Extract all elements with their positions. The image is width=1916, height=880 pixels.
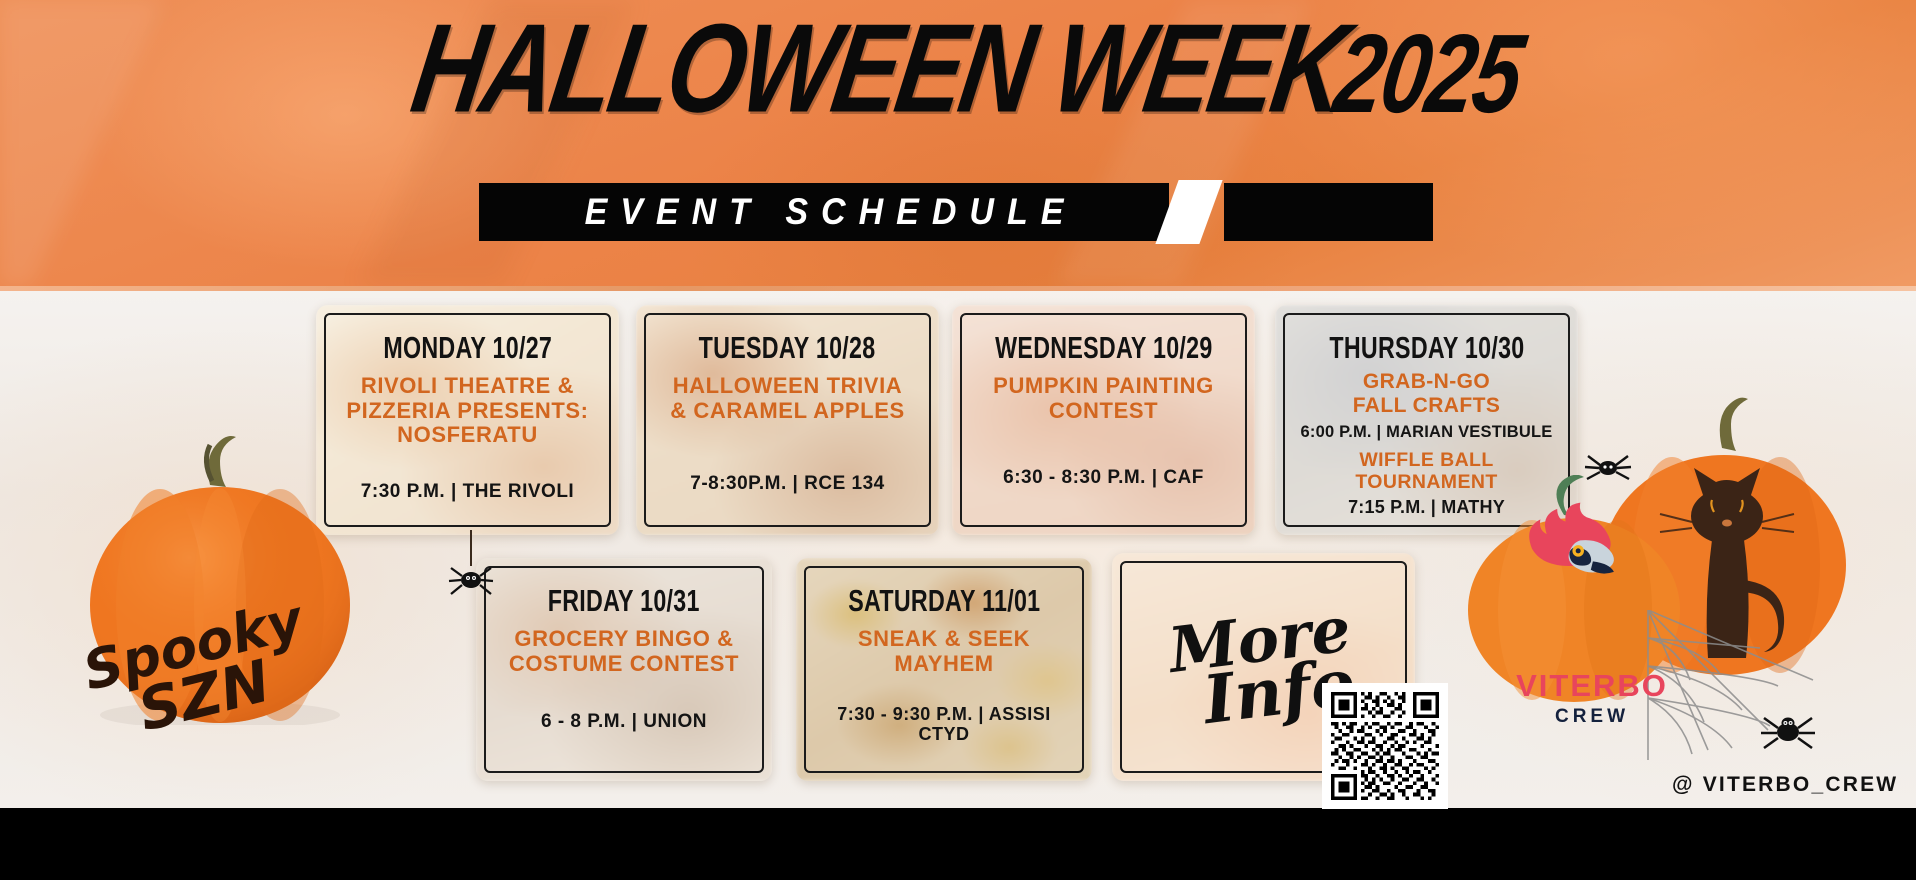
event-meta: 6:30 - 8:30 P.M. | CAF <box>1003 467 1204 489</box>
halloween-week-poster: HALLOWEEN WEEK 2025 EVENT SCHEDULE <box>0 0 1916 880</box>
card-content: WEDNESDAY 10/29 PUMPKIN PAINTING CONTEST… <box>960 313 1247 527</box>
page-title: HALLOWEEN WEEK <box>405 5 1353 131</box>
event-schedule-banner: EVENT SCHEDULE <box>479 183 1433 241</box>
poster-header: HALLOWEEN WEEK 2025 EVENT SCHEDULE <box>0 0 1916 286</box>
event-title: RIVOLI THEATRE & PIZZERIA PRESENTS: NOSF… <box>346 374 588 448</box>
card-content: FRIDAY 10/31 GROCERY BINGO & COSTUME CON… <box>484 566 764 773</box>
footer-bar <box>0 808 1916 880</box>
event-card-wednesday[interactable]: WEDNESDAY 10/29 PUMPKIN PAINTING CONTEST… <box>952 305 1255 535</box>
event-title: PUMPKIN PAINTING CONTEST <box>993 374 1214 423</box>
event-card-friday[interactable]: FRIDAY 10/31 GROCERY BINGO & COSTUME CON… <box>476 558 772 781</box>
card-content: SATURDAY 11/01 SNEAK & SEEK MAYHEM 7:30 … <box>804 566 1084 773</box>
hanging-spider-icon <box>448 560 494 600</box>
viterbo-crew-logotype: VITERBO CREW <box>1492 668 1692 728</box>
banner-label: EVENT SCHEDULE <box>479 180 1169 244</box>
spider-icon <box>1761 718 1815 749</box>
event-meta: 7-8:30P.M. | RCE 134 <box>690 473 885 495</box>
event-day: TUESDAY 10/28 <box>699 331 876 366</box>
viterbo-word: VITERBO <box>1492 668 1692 704</box>
card-content: TUESDAY 10/28 HALLOWEEN TRIVIA & CARAMEL… <box>644 313 931 527</box>
event-meta: 6 - 8 P.M. | UNION <box>541 711 707 733</box>
event-title: HALLOWEEN TRIVIA & CARAMEL APPLES <box>670 374 905 423</box>
header-edge-divider <box>0 286 1916 291</box>
event-card-saturday[interactable]: SATURDAY 11/01 SNEAK & SEEK MAYHEM 7:30 … <box>796 558 1092 781</box>
title-year: 2025 <box>1328 18 1529 130</box>
event-title: GRAB-N-GO FALL CRAFTS <box>1353 370 1501 417</box>
event-meta: 7:30 P.M. | THE RIVOLI <box>361 481 574 503</box>
event-day: SATURDAY 11/01 <box>848 584 1040 619</box>
crew-word: CREW <box>1492 706 1692 728</box>
title-line: HALLOWEEN WEEK 2025 <box>405 34 1511 131</box>
poster-title-block: HALLOWEEN WEEK 2025 <box>0 34 1916 131</box>
event-meta: 7:30 - 9:30 P.M. | ASSISI CTYD <box>837 704 1051 745</box>
event-day: THURSDAY 10/30 <box>1329 331 1524 366</box>
event-day: WEDNESDAY 10/29 <box>995 331 1212 366</box>
event-card-tuesday[interactable]: TUESDAY 10/28 HALLOWEEN TRIVIA & CARAMEL… <box>636 305 939 535</box>
qr-code-image <box>1331 692 1439 800</box>
event-title: GROCERY BINGO & COSTUME CONTEST <box>509 627 739 676</box>
banner-bar-secondary <box>1224 183 1433 241</box>
social-handle: @ VITERBO_CREW <box>1672 773 1898 797</box>
event-meta: 6:00 P.M. | MARIAN VESTIBULE <box>1301 423 1553 442</box>
qr-code[interactable] <box>1322 683 1448 809</box>
event-day: MONDAY 10/27 <box>383 331 552 366</box>
event-day: FRIDAY 10/31 <box>548 584 700 619</box>
event-title: SNEAK & SEEK MAYHEM <box>858 627 1030 676</box>
